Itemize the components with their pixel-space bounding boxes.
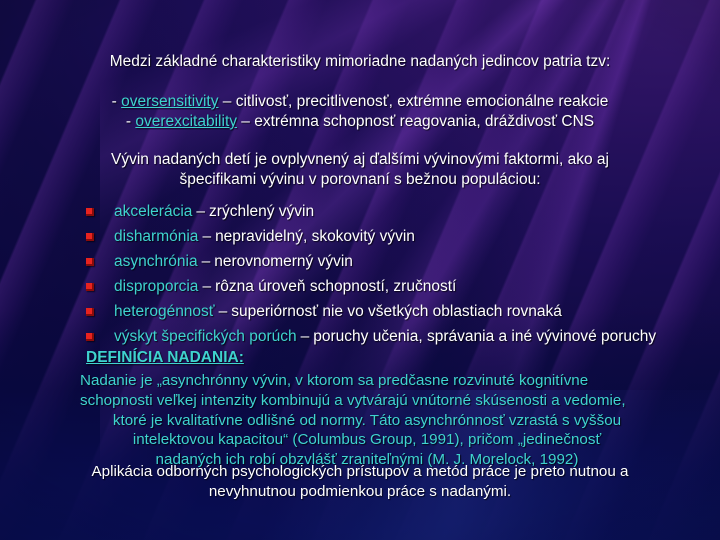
definition-line-2: schopnosti veľkej intenzity kombinujú a …	[80, 391, 654, 411]
square-bullet-icon	[86, 333, 94, 341]
list-item-term: asynchrónia	[114, 253, 198, 271]
list-item-description: nepravidelný, skokovitý vývin	[215, 228, 415, 246]
square-bullet-icon	[86, 283, 94, 291]
intro-line: Medzi základné charakteristiky mimoriadn…	[0, 54, 720, 70]
list-item-description: superiórnosť nie vo všetkých oblastiach …	[231, 303, 562, 321]
square-bullet-icon	[86, 308, 94, 316]
list-item-dash: –	[202, 278, 211, 296]
overexcitability-link[interactable]: overexcitability	[135, 113, 237, 130]
list-item-term: heterogénnosť	[114, 303, 215, 321]
list-item-description: poruchy učenia, správania a iné vývinové…	[313, 328, 656, 346]
square-bullet-icon	[86, 233, 94, 241]
bullet-dash-prefix: -	[126, 113, 135, 130]
list-item-description: nerovnomerný vývin	[214, 253, 353, 271]
list-item: disproporcia – rôzna úroveň schopností, …	[86, 274, 706, 299]
second-intro-line-2: špecifikami vývinu v porovnaní s bežnou …	[0, 172, 720, 188]
list-item-dash: –	[196, 203, 205, 221]
list-item-description: zrýchlený vývin	[209, 203, 314, 221]
list-item-dash: –	[219, 303, 228, 321]
oversensitivity-link[interactable]: oversensitivity	[121, 93, 218, 110]
characteristics-list: akcelerácia – zrýchlený vývin disharmóni…	[86, 199, 706, 349]
second-intro-line-1: Vývin nadaných detí je ovplyvnený aj ďal…	[0, 152, 720, 168]
list-item: disharmónia – nepravidelný, skokovitý vý…	[86, 224, 706, 249]
list-item: asynchrónia – nerovnomerný vývin	[86, 249, 706, 274]
presentation-slide: Medzi základné charakteristiky mimoriadn…	[0, 0, 720, 540]
slide-content: Medzi základné charakteristiky mimoriadn…	[0, 0, 720, 540]
list-item: výskyt špecifických porúch – poruchy uče…	[86, 324, 706, 349]
definition-heading: DEFINÍCIA NADANIA:	[86, 350, 244, 366]
list-item: heterogénnosť – superiórnosť nie vo všet…	[86, 299, 706, 324]
definition-paragraph: Nadanie je „asynchrónny vývin, v ktorom …	[80, 371, 654, 470]
definition-line-4: intelektovou kapacitou“ (Columbus Group,…	[80, 430, 654, 450]
closing-line-1: Aplikácia odborných psychologických prís…	[60, 462, 660, 482]
overexcitability-description: – extrémna schopnosť reagovania, dráždiv…	[237, 113, 594, 130]
closing-paragraph: Aplikácia odborných psychologických prís…	[60, 462, 660, 502]
definition-line-3: ktoré je kvalitatívne odlišné od normy. …	[80, 411, 654, 431]
oversensitivity-description: – citlivosť, precitlivenosť, extrémne em…	[218, 93, 608, 110]
list-item-dash: –	[301, 328, 310, 346]
list-item-term: akcelerácia	[114, 203, 192, 221]
overexcitability-line: - overexcitability – extrémna schopnosť …	[0, 114, 720, 130]
list-item: akcelerácia – zrýchlený vývin	[86, 199, 706, 224]
oversensitivity-line: - oversensitivity – citlivosť, precitliv…	[0, 94, 720, 110]
list-item-term: disproporcia	[114, 278, 198, 296]
square-bullet-icon	[86, 258, 94, 266]
definition-line-1: Nadanie je „asynchrónny vývin, v ktorom …	[80, 371, 654, 391]
square-bullet-icon	[86, 208, 94, 216]
list-item-term: výskyt špecifických porúch	[114, 328, 297, 346]
closing-line-2: nevyhnutnou podmienkou práce s nadanými.	[60, 482, 660, 502]
list-item-term: disharmónia	[114, 228, 198, 246]
list-item-description: rôzna úroveň schopností, zručností	[215, 278, 456, 296]
list-item-dash: –	[202, 253, 211, 271]
list-item-dash: –	[202, 228, 211, 246]
bullet-dash-prefix: -	[112, 93, 121, 110]
